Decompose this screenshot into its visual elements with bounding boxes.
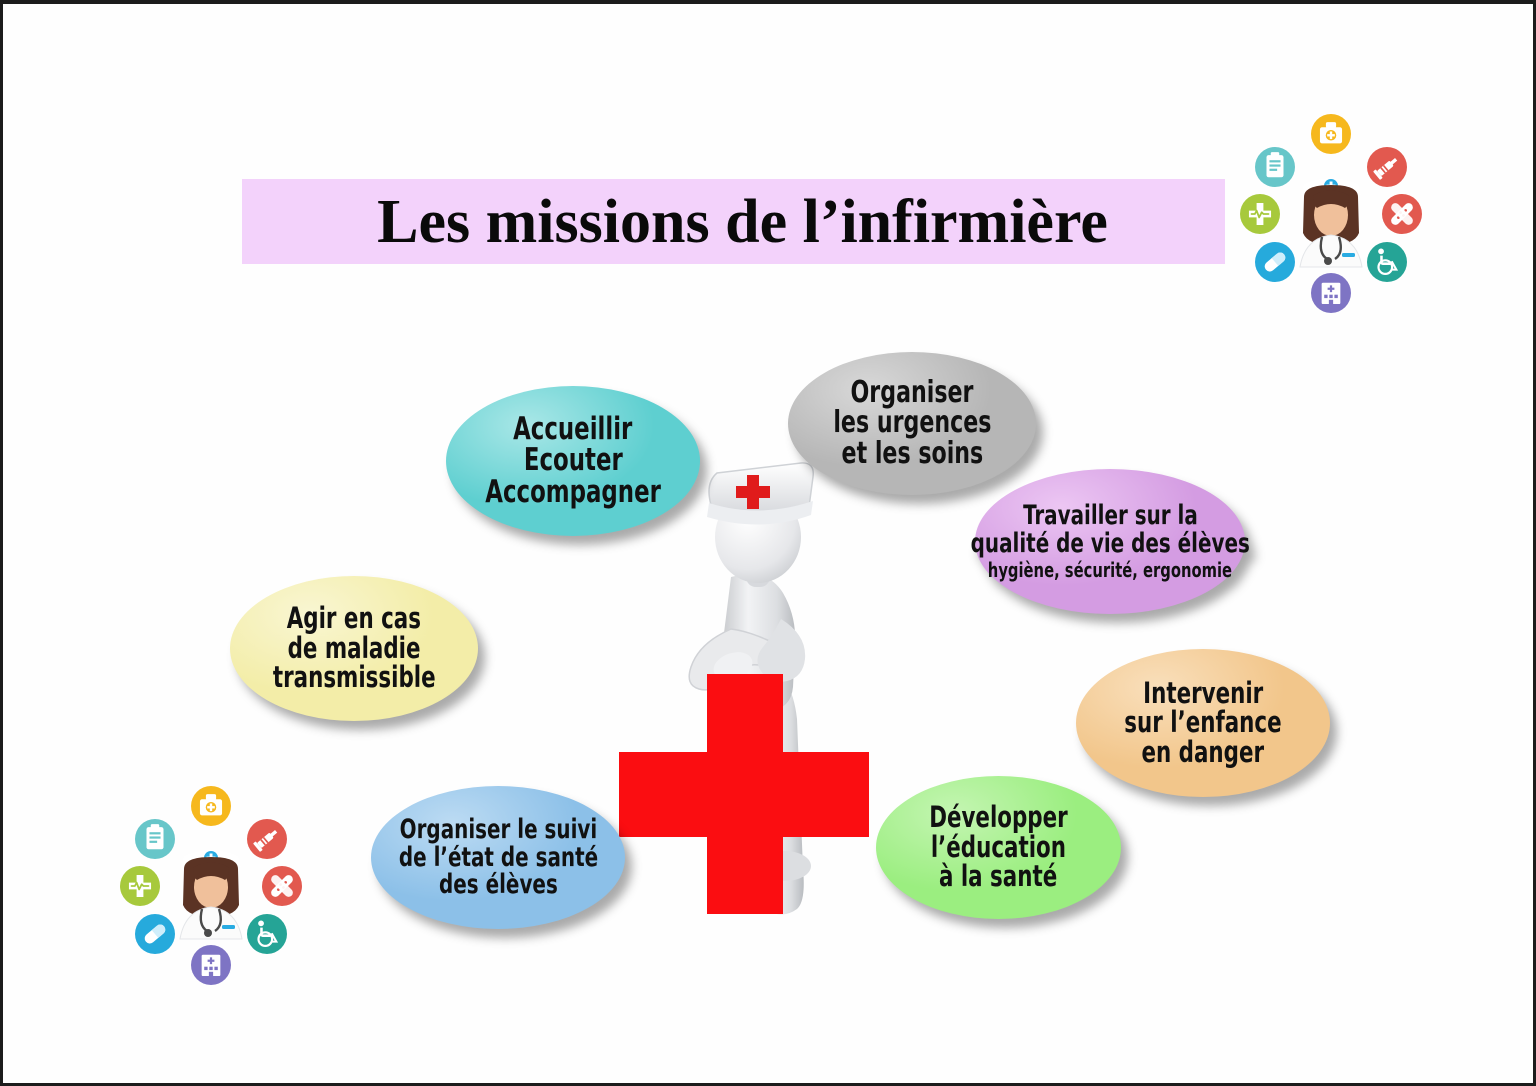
mission-bubble-education-sante: Développerl’éducationà la santé <box>876 776 1121 919</box>
nurse-avatar <box>164 833 258 948</box>
mission-line: Accueillir <box>513 414 632 446</box>
mission-line: en danger <box>1142 738 1265 768</box>
mission-bubble-enfance-en-danger: Intervenirsur l’enfanceen danger <box>1076 649 1330 797</box>
mission-line: Travailler sur la <box>1023 502 1198 530</box>
mission-line: Développer <box>929 803 1067 833</box>
medical-kit-icon <box>191 786 231 826</box>
mission-line: à la santé <box>939 862 1057 892</box>
mission-line: Organiser le suivi <box>399 816 597 844</box>
mission-line: Accompagner <box>485 477 661 509</box>
nurse-avatar <box>1284 161 1378 276</box>
mission-line: l’éducation <box>931 833 1066 863</box>
hospital-icon <box>1311 273 1351 313</box>
medical-cross-heartbeat-icon <box>120 866 160 906</box>
mission-line: de l’état de santé <box>398 844 597 872</box>
mission-line: de maladie <box>288 634 421 664</box>
red-cross-symbol <box>619 674 869 914</box>
page-title: Les missions de l’infirmière <box>359 191 1108 253</box>
mission-line: et les soins <box>841 439 983 470</box>
mission-line: Ecouter <box>524 445 623 477</box>
slide-canvas: Les missions de l’infirmière <box>0 0 1536 1086</box>
mission-bubble-urgences: Organiserles urgenceset les soins <box>788 352 1036 495</box>
bandage-icon <box>1382 194 1422 234</box>
mission-line: sur l’enfance <box>1124 708 1281 738</box>
mission-line: qualité de vie des élèves <box>970 530 1249 558</box>
mission-line: les urgences <box>833 408 991 439</box>
mission-subtitle: hygiène, sécurité, ergonomie <box>988 560 1232 580</box>
title-band: Les missions de l’infirmière <box>242 179 1225 264</box>
mission-bubble-qualite-de-vie: Travailler sur laqualité de vie des élèv… <box>975 469 1245 614</box>
mission-bubble-maladie-transmissible: Agir en casde maladietransmissible <box>230 576 478 721</box>
nurse-icon-cluster-top-right <box>1228 114 1434 314</box>
center-nurse-figure <box>603 459 893 919</box>
mission-bubble-accueillir: AccueillirEcouterAccompagner <box>446 386 700 536</box>
nurse-icon-cluster-bottom-left <box>108 786 314 986</box>
bandage-icon <box>262 866 302 906</box>
mission-line: Organiser <box>851 378 974 409</box>
mission-line: transmissible <box>273 663 436 693</box>
mission-line: des élèves <box>439 871 558 899</box>
medical-kit-icon <box>1311 114 1351 154</box>
hospital-icon <box>191 945 231 985</box>
mission-bubble-suivi-etat-de-sante: Organiser le suivide l’état de santédes … <box>371 786 625 929</box>
mission-line: Intervenir <box>1143 679 1263 709</box>
medical-cross-heartbeat-icon <box>1240 194 1280 234</box>
mission-line: Agir en cas <box>287 604 421 634</box>
